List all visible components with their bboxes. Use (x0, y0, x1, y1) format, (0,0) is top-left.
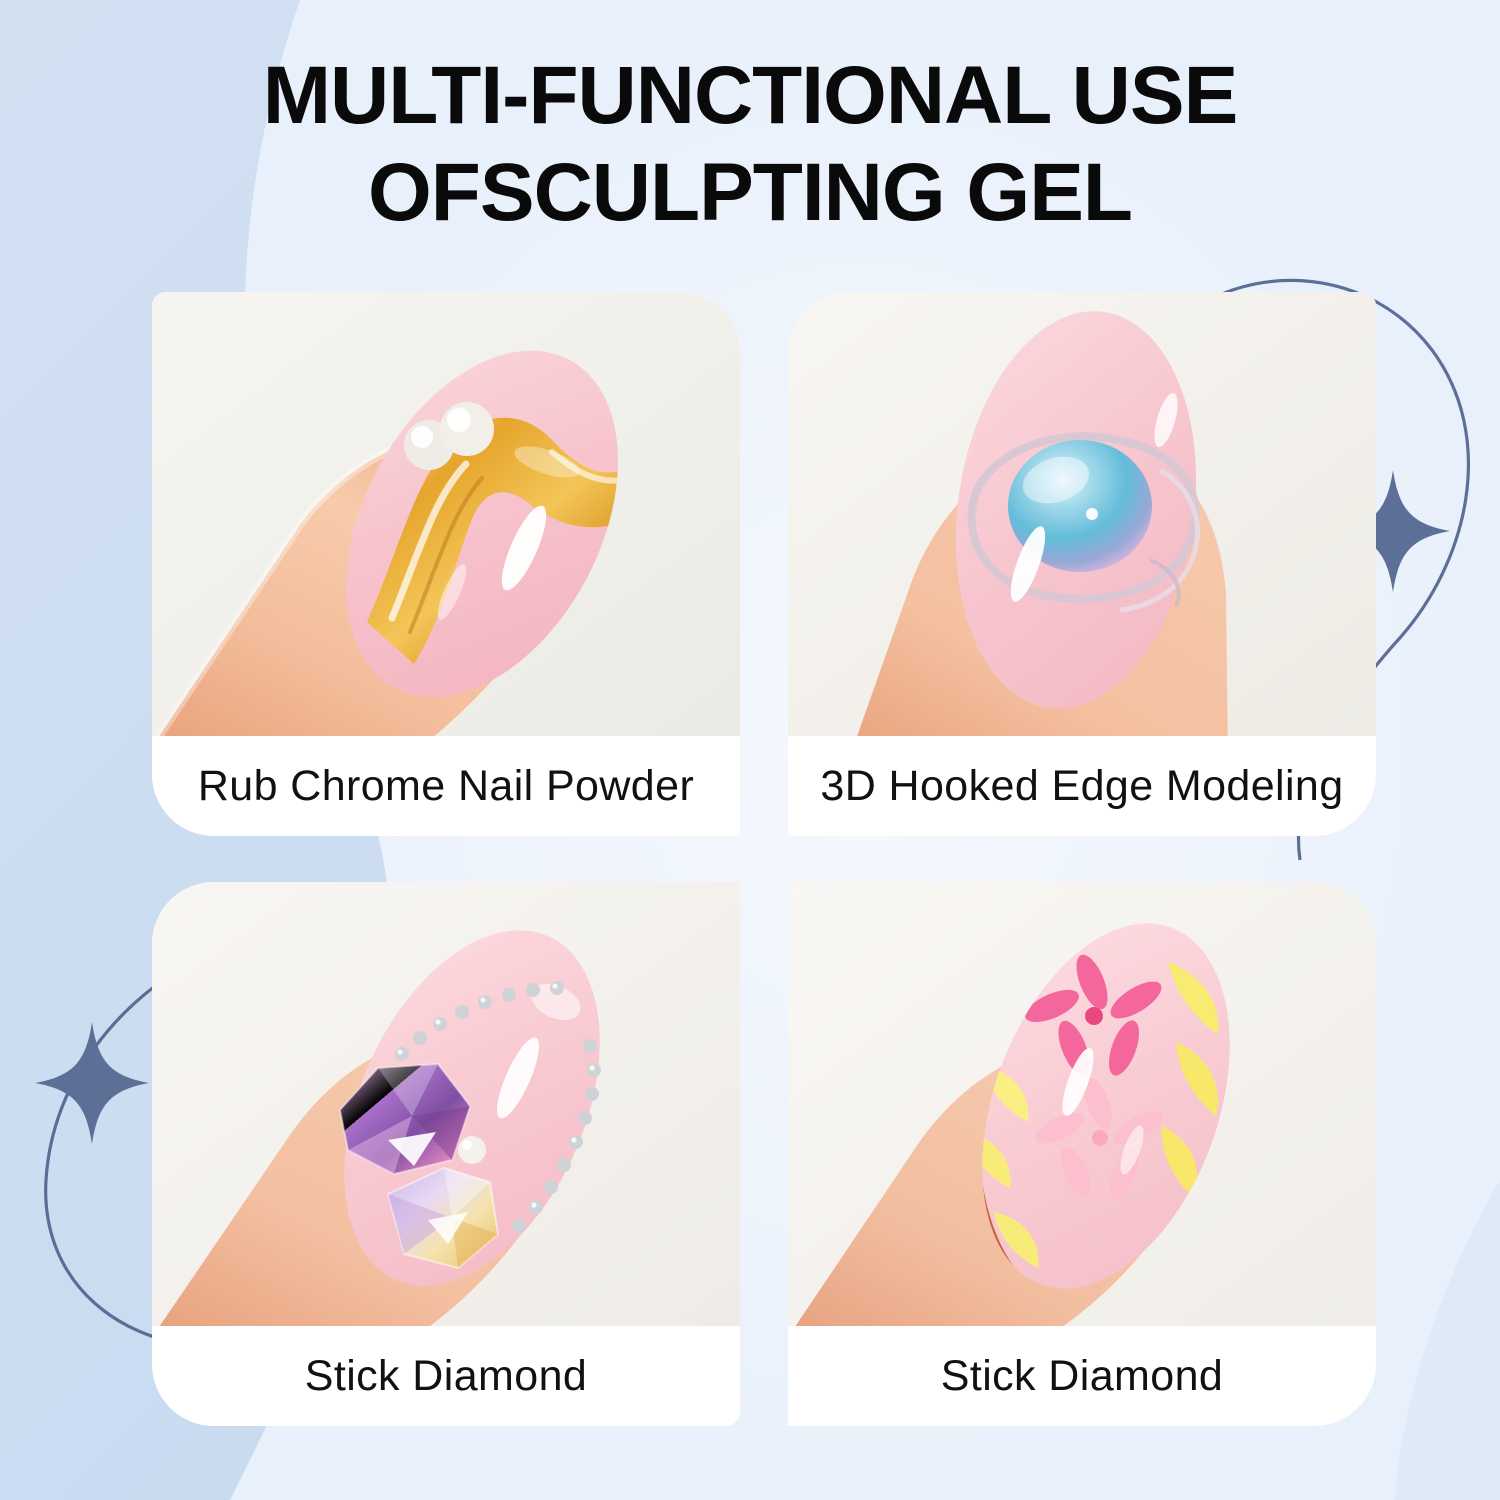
card-caption: Rub Chrome Nail Powder (152, 736, 740, 836)
caption-text: Stick Diamond (305, 1352, 587, 1401)
card-caption: Stick Diamond (152, 1326, 740, 1426)
feature-card-3d-hooked-edge-modeling[interactable]: 3D Hooked Edge Modeling (788, 292, 1376, 836)
title-line-1: MULTI-FUNCTIONAL USE (0, 48, 1500, 145)
card-caption: Stick Diamond (788, 1326, 1376, 1426)
page-title: MULTI-FUNCTIONAL USE OFSCULPTING GEL (0, 48, 1500, 242)
title-line-2: OFSCULPTING GEL (0, 145, 1500, 242)
nail-art-illustration-flowers (788, 882, 1376, 1326)
pearl-bead (440, 402, 494, 456)
nail-art-illustration-crystals (152, 882, 740, 1326)
nail-art-illustration-cabochon (788, 292, 1376, 736)
caption-text: Rub Chrome Nail Powder (198, 762, 694, 811)
card-caption: 3D Hooked Edge Modeling (788, 736, 1376, 836)
nail-photo-rub-chrome (152, 292, 740, 736)
nail-photo-stick-diamond-flowers (788, 882, 1376, 1326)
feature-card-grid: Rub Chrome Nail Powder (152, 292, 1376, 1426)
pearl-bead (458, 1136, 486, 1164)
caption-text: Stick Diamond (941, 1352, 1223, 1401)
caption-text: 3D Hooked Edge Modeling (820, 762, 1343, 811)
nail-photo-hooked-edge (788, 292, 1376, 736)
nail-photo-stick-diamond-crystals (152, 882, 740, 1326)
feature-card-stick-diamond-right[interactable]: Stick Diamond (788, 882, 1376, 1426)
nail-art-illustration-chrome (152, 292, 740, 736)
feature-card-stick-diamond-left[interactable]: Stick Diamond (152, 882, 740, 1426)
feature-card-rub-chrome-nail-powder[interactable]: Rub Chrome Nail Powder (152, 292, 740, 836)
